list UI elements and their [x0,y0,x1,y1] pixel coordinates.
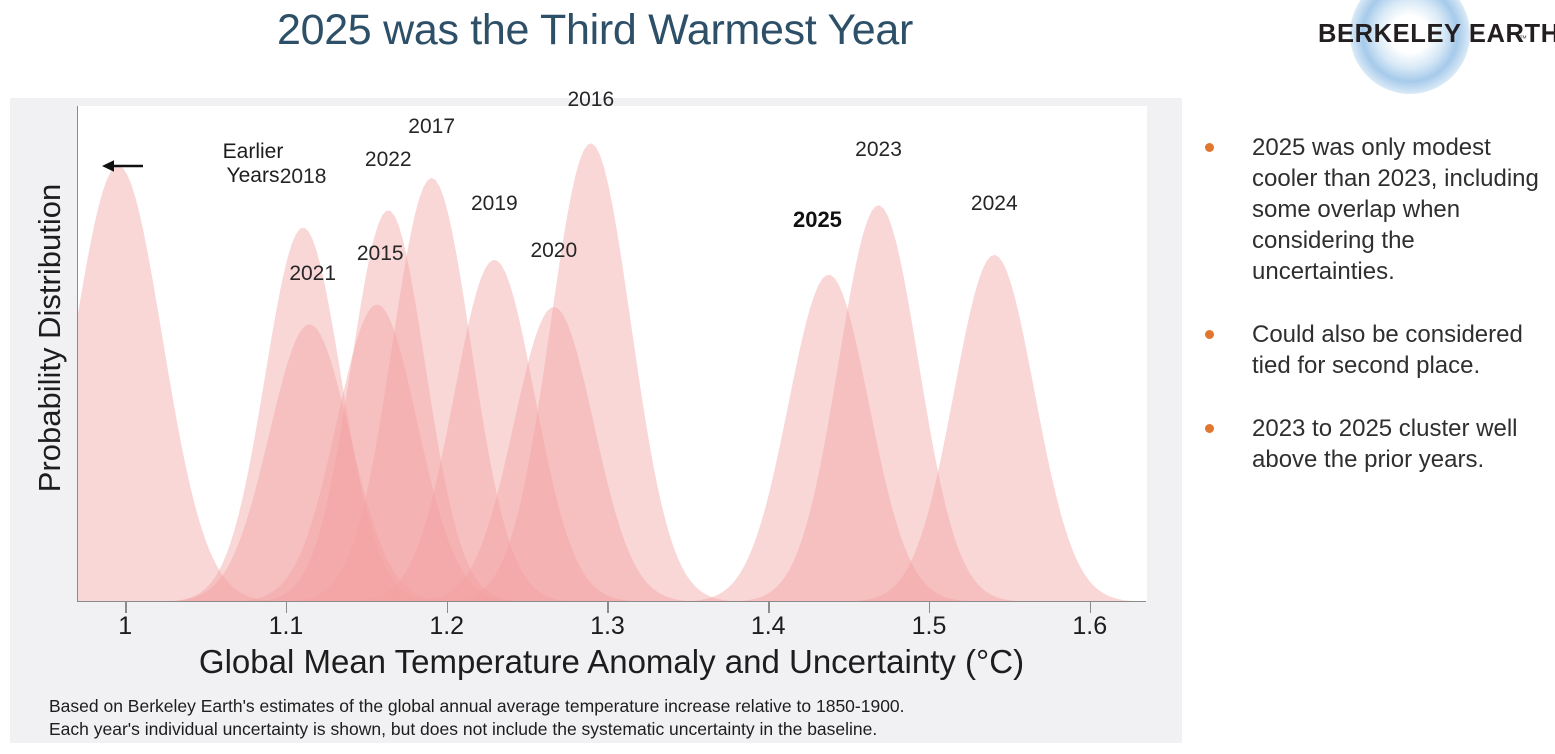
year-label-2017: 2017 [408,115,455,139]
list-item: 2025 was only modest cooler than 2023, i… [1205,132,1553,287]
key-points-list: 2025 was only modest cooler than 2023, i… [1205,132,1553,507]
year-label-2021: 2021 [289,262,336,286]
x-tick-label-1.5: 1.5 [899,612,959,641]
x-tick-label-1.2: 1.2 [417,612,477,641]
x-tick-label-1: 1 [95,612,155,641]
caption-line-2: Each year's individual uncertainty is sh… [49,718,1159,741]
figure-caption: Based on Berkeley Earth's estimates of t… [49,695,1159,741]
x-tick-label-1.3: 1.3 [577,612,637,641]
bullet-text: 2023 to 2025 cluster well above the prio… [1252,413,1553,475]
bullet-dot-icon [1205,143,1214,152]
logo-trademark-symbol: ™ [1519,34,1527,43]
year-label-2019: 2019 [471,192,518,216]
left-arrow-icon [102,158,144,174]
berkeley-earth-logo: BERKELEY EARTH ™ [1300,0,1545,86]
year-label-2018: 2018 [280,165,327,189]
year-label-2022: 2022 [365,148,412,172]
page-header: 2025 was the Third Warmest Year BERKELEY… [0,0,1555,92]
list-item: Could also be considered tied for second… [1205,319,1553,381]
figure-panel: Probability Distribution Earlier Years 2… [10,98,1182,743]
earlier-years-label: Earlier Years [223,140,284,187]
year-label-2016: 2016 [567,88,614,112]
year-label-2024: 2024 [971,192,1018,216]
x-tick-label-1.1: 1.1 [256,612,316,641]
bullet-dot-icon [1205,424,1214,433]
x-axis-line [77,601,1146,602]
bullet-dot-icon [1205,330,1214,339]
x-tick-label-1.6: 1.6 [1060,612,1120,641]
bullet-text: 2025 was only modest cooler than 2023, i… [1252,132,1553,287]
caption-line-1: Based on Berkeley Earth's estimates of t… [49,695,1159,718]
y-axis-title: Probability Distribution [32,128,68,548]
year-label-2025: 2025 [793,207,842,233]
plot-area: Earlier Years 20182021201520222017201920… [77,106,1147,602]
list-item: 2023 to 2025 cluster well above the prio… [1205,413,1553,475]
x-tick-label-1.4: 1.4 [738,612,798,641]
year-label-2023: 2023 [855,138,902,162]
year-label-2015: 2015 [357,242,404,266]
page-title: 2025 was the Third Warmest Year [0,6,1190,55]
bullet-text: Could also be considered tied for second… [1252,319,1553,381]
x-axis-title: Global Mean Temperature Anomaly and Unce… [77,643,1146,681]
year-label-2020: 2020 [530,239,577,263]
